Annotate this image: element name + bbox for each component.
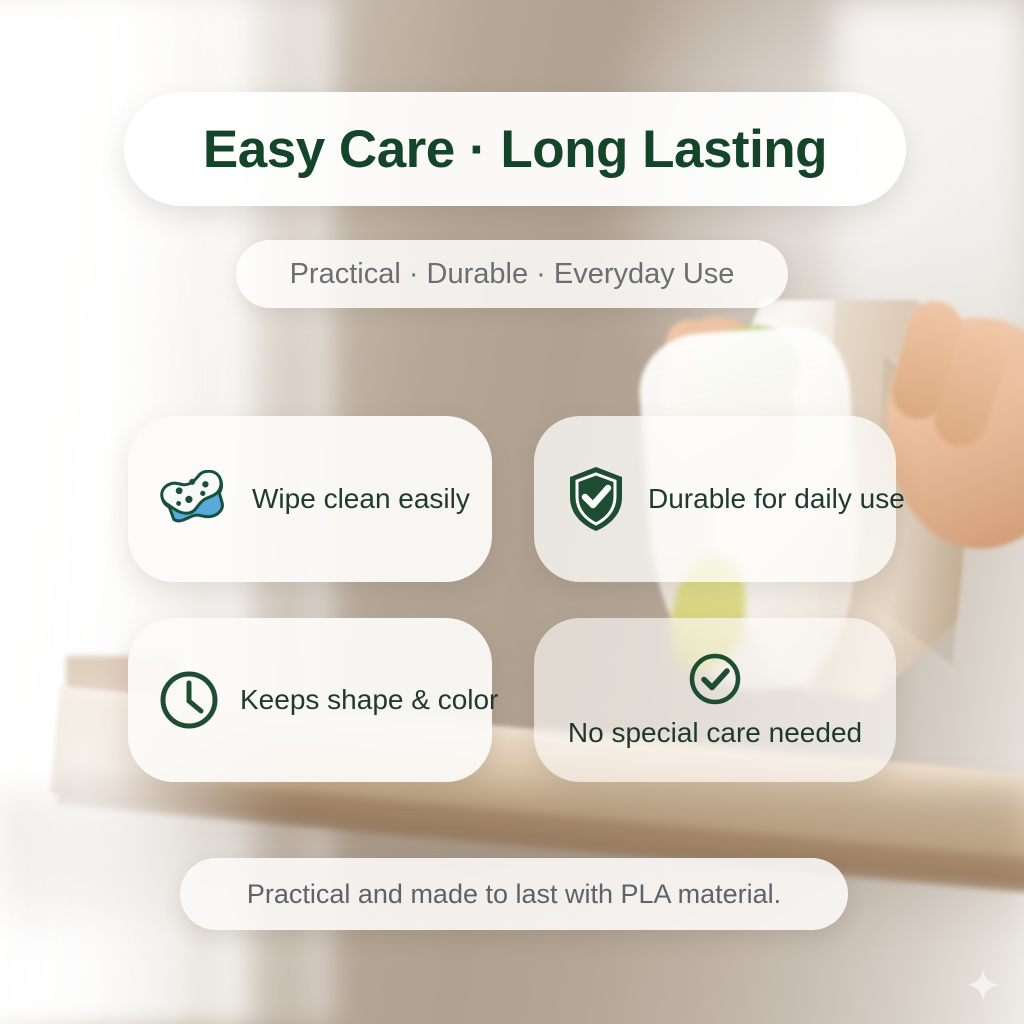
page-subtitle: Practical · Durable · Everyday Use [290, 258, 735, 291]
sparkle-icon [966, 968, 1000, 1002]
check-circle-icon [687, 651, 743, 707]
subtitle-pill: Practical · Durable · Everyday Use [236, 240, 788, 308]
feature-card-no-special-care[interactable]: No special care needed [534, 618, 896, 782]
feature-card-durable[interactable]: Durable for daily use [534, 416, 896, 582]
clock-icon [158, 669, 220, 731]
feature-label: Wipe clean easily [252, 483, 470, 515]
footer-text: Practical and made to last with PLA mate… [247, 879, 781, 910]
poster-canvas: Easy Care · Long Lasting Practical · Dur… [0, 0, 1024, 1024]
shield-check-icon [566, 465, 626, 533]
feature-label: No special care needed [568, 717, 862, 749]
page-title: Easy Care · Long Lasting [203, 119, 827, 180]
title-pill: Easy Care · Long Lasting [124, 92, 906, 206]
overlay-content: Easy Care · Long Lasting Practical · Dur… [0, 0, 1024, 1024]
feature-label: Durable for daily use [648, 483, 905, 515]
sponge-icon [158, 470, 230, 528]
feature-card-wipe-clean[interactable]: Wipe clean easily [128, 416, 492, 582]
feature-label: Keeps shape & color [240, 684, 498, 716]
feature-card-keeps-shape[interactable]: Keeps shape & color [128, 618, 492, 782]
footer-pill: Practical and made to last with PLA mate… [180, 858, 848, 930]
